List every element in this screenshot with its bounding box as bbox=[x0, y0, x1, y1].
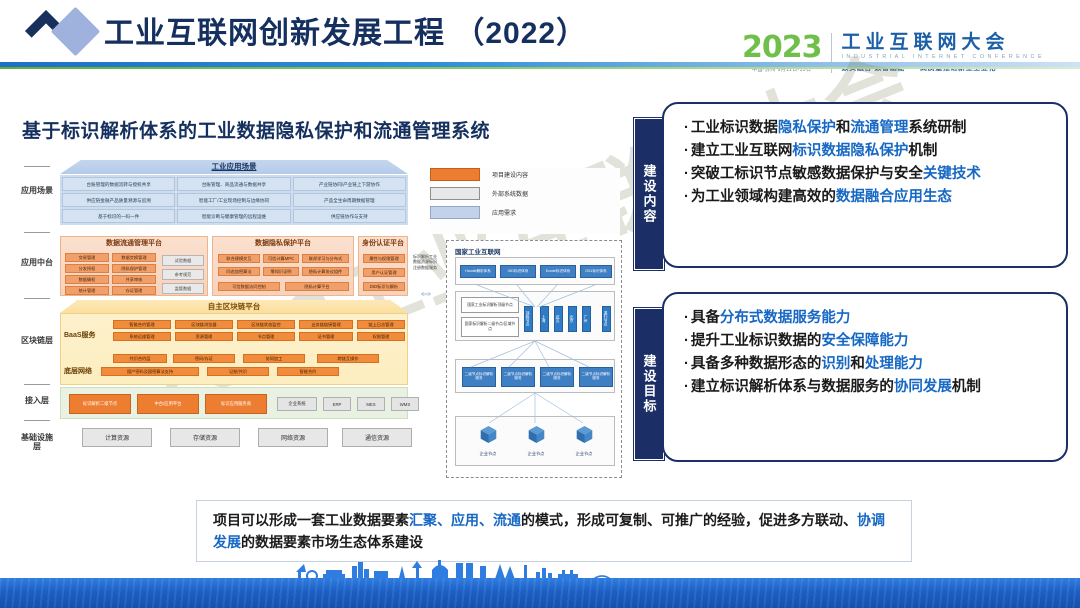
platform-pill: 联合建模交互 bbox=[218, 254, 260, 263]
root-node-box: 国家工业标识解析顶级节点 国家标识解析二级节点/区域节点 顶级节点 上海 武汉 … bbox=[455, 291, 615, 341]
cube-icon bbox=[576, 425, 593, 444]
platform-pill: 同态加密算法 bbox=[218, 267, 260, 276]
legend-swatch-icon bbox=[430, 206, 480, 219]
access-pill: 标识解析二级节点 bbox=[69, 394, 131, 414]
conference-year: 2023 bbox=[742, 33, 822, 63]
baas-pill: 区块链状态监控 bbox=[237, 320, 295, 329]
enterprise-node-label: 企业节点 bbox=[564, 451, 604, 457]
slide-canvas: 工业互联网创新发展工程 （2022） 2023 中国·苏州 9月11日-13日 … bbox=[0, 0, 1080, 608]
infrastructure-body: 计算资源 存储资源 网络资源 通信资源 bbox=[60, 423, 408, 453]
diamond-shape-icon bbox=[51, 7, 100, 56]
platform-data-privacy: 数据隐私保护平台 联合建模交互 可信计算MPC 联邦学习与分布式 同态加密算法 … bbox=[212, 236, 354, 296]
second-level-box: 二级节点标识解析服务 二级节点标识解析服务 二级节点标识解析服务 二级节点标识解… bbox=[455, 359, 615, 393]
bullet-item: 提升工业标识数据的安全保障能力 bbox=[684, 333, 1054, 350]
baas-pill: 区块链浏览器 bbox=[175, 320, 233, 329]
network-pill: 协同加工 bbox=[243, 354, 305, 363]
bullet-item: 具备多种数据形态的识别和处理能力 bbox=[684, 356, 1054, 373]
legend-label: 项目建设内容 bbox=[492, 170, 528, 179]
exchange-note: 标识解析工业数据资源标识注册数据服务 bbox=[412, 254, 438, 270]
bullet-item: 建立标识解析体系与数据服务的协同发展机制 bbox=[684, 379, 1054, 396]
region-chip: 上海 bbox=[540, 306, 549, 332]
second-level-chip: 二级节点标识解析服务 bbox=[540, 367, 574, 387]
bidirectional-arrow-icon: ⇔ bbox=[412, 286, 440, 300]
app-scenario-cell: 供应链金融产品质量溯源与追溯 bbox=[62, 193, 175, 207]
panel-construction-goal: 具备分布式数据服务能力 提升工业标识数据的安全保障能力 具备多种数据形态的识别和… bbox=[662, 292, 1068, 462]
platform-band: 数据流通管理平台 交易管理 数据交换管理 分发授权 隐私保护管理 数据确权 共享… bbox=[60, 236, 408, 296]
infra-pill: 通信资源 bbox=[342, 428, 412, 447]
tab-construction-goal[interactable]: 建设目标 bbox=[634, 308, 664, 460]
legend-label: 应用需求 bbox=[492, 208, 516, 217]
water-band bbox=[0, 578, 1080, 608]
summary-box: 项目可以形成一套工业数据要素汇聚、应用、流通的模式，形成可复制、可推广的经验，促… bbox=[196, 500, 912, 562]
bullet-item: 突破工标识节点敏感数据保护与安全关键技术 bbox=[684, 166, 1054, 183]
conference-logo: 2023 中国·苏州 9月11日-13日 工业互联网大会 INDUSTRIAL … bbox=[742, 26, 1072, 80]
cube-icon bbox=[480, 425, 497, 444]
external-pill: 监管数据 bbox=[162, 283, 204, 294]
cube-icon bbox=[528, 425, 545, 444]
bullet-item: 具备分布式数据服务能力 bbox=[684, 310, 1054, 327]
baas-pill: 业务链链接管理 bbox=[299, 320, 353, 329]
national-network-title: 国家工业互联网 bbox=[455, 246, 501, 256]
platform-pill: 数据确权 bbox=[65, 275, 109, 284]
baas-label: BaaS服务 bbox=[64, 330, 96, 340]
infra-pill: 计算资源 bbox=[82, 428, 152, 447]
layer-label-access: 接入层 bbox=[18, 396, 56, 405]
legend-swatch-icon bbox=[430, 187, 480, 200]
summary-text: 项目可以形成一套工业数据要素汇聚、应用、流通的模式，形成可复制、可推广的经验，促… bbox=[213, 511, 895, 554]
baas-pill: 证书管理 bbox=[299, 332, 353, 341]
recursive-node-chip: 递归节点 bbox=[602, 306, 611, 332]
platform-pill: 属性与权限管理 bbox=[363, 254, 405, 263]
identity-standards-box: Handle解析体系 OID标识体系 Ecode标识体系 GS1标识体系 bbox=[455, 257, 615, 285]
standard-chip: Ecode标识体系 bbox=[540, 265, 576, 278]
platform-pill: 交易管理 bbox=[65, 253, 109, 262]
platform-identity-auth: 身份认证平台 属性与权限管理 用户认证管理 DID标识与解析 bbox=[358, 236, 408, 296]
external-system-pill: WMS bbox=[391, 397, 419, 411]
conference-name-en: INDUSTRIAL INTERNET CONFERENCE bbox=[842, 54, 1045, 60]
standard-chip: Handle解析体系 bbox=[460, 265, 496, 278]
legend-label: 外部系统数据 bbox=[492, 189, 528, 198]
external-system-pill: ERP bbox=[323, 397, 351, 411]
app-scenario-cell: 产业链协同/产业链上下游协作 bbox=[293, 177, 406, 191]
conference-name-cn: 工业互联网大会 bbox=[842, 33, 1045, 53]
platform-pill: 用户认证管理 bbox=[363, 268, 405, 277]
external-system-pill: MES bbox=[357, 397, 385, 411]
platform-pill: 存证管理 bbox=[112, 286, 156, 295]
brand-logo-icon bbox=[28, 10, 108, 56]
baas-pill: 链上日志管理 bbox=[357, 320, 405, 329]
legend-swatch-icon bbox=[430, 168, 480, 181]
platform-data-circulation: 数据流通管理平台 交易管理 数据交换管理 分发授权 隐私保护管理 数据确权 共享… bbox=[60, 236, 208, 296]
page-title: 工业互联网创新发展工程 （2022） bbox=[104, 8, 587, 52]
platform-pill: 隐私保护管理 bbox=[112, 264, 156, 273]
baas-pill: 权限管理 bbox=[357, 332, 405, 341]
network-pill: 国产密码及国密算法支持 bbox=[101, 367, 199, 376]
platform-pill: 零知识证明 bbox=[263, 267, 299, 276]
app-scenario-cell: 台账管理、商品流通与数据共享 bbox=[177, 177, 290, 191]
layer-label-infrastructure: 基础设施层 bbox=[18, 433, 56, 451]
layer-label-application-midend: 应用中台 bbox=[18, 258, 56, 267]
external-pill: 参考规范 bbox=[162, 269, 204, 280]
app-scenario-cell: 产品全生命周期数据管理 bbox=[293, 193, 406, 207]
root-node-label: 国家工业标识解析顶级节点 bbox=[461, 297, 519, 313]
network-pill: 共识合约层 bbox=[113, 354, 167, 363]
app-scenario-title: 工业应用场景 bbox=[60, 160, 408, 174]
platform-pill: 统计管理 bbox=[65, 286, 109, 295]
platform-pill: 数据交换管理 bbox=[112, 253, 156, 262]
baas-pill: 智能合约管理 bbox=[113, 320, 171, 329]
standard-chip: GS1标识体系 bbox=[580, 265, 612, 278]
footer-skyline-band bbox=[0, 562, 1080, 608]
top-node-chip: 顶级节点 bbox=[524, 306, 533, 332]
platform-pill: 可信计算MPC bbox=[263, 254, 299, 263]
bullet-item: 建立工业互联网标识数据隐私保护机制 bbox=[684, 143, 1054, 160]
enterprise-node-box: 企业节点 企业节点 企业节点 bbox=[455, 416, 615, 466]
external-pill: 试验数据 bbox=[162, 255, 204, 266]
architecture-diagram: 应用场景 应用中台 区块链层 接入层 基础设施层 工业应用场景 台账管理的数据流… bbox=[18, 158, 623, 488]
layer-rail: 应用场景 应用中台 区块链层 接入层 基础设施层 bbox=[18, 158, 56, 488]
app-scenario-grid: 台账管理的数据流转与授权共享 台账管理、商品流通与数据共享 产业链协同/产业链上… bbox=[60, 175, 408, 225]
second-level-chip: 二级节点标识解析服务 bbox=[579, 367, 613, 387]
standard-chip: OID标识体系 bbox=[500, 265, 536, 278]
region-chip: 武汉 bbox=[554, 306, 563, 332]
platform-pill: DID标识与解析 bbox=[363, 282, 405, 291]
national-network-panel: 国家工业互联网 Handle解析体系 OID标识体系 Ecode标识体系 GS1… bbox=[446, 240, 622, 478]
app-scenario-cell: 智能诊断与健康管理的远程运维 bbox=[177, 209, 290, 223]
legend-item: 应用需求 bbox=[430, 206, 620, 219]
infra-pill: 网络资源 bbox=[258, 428, 328, 447]
enterprise-node-label: 企业节点 bbox=[516, 451, 556, 457]
network-pill: 跨链互操作 bbox=[317, 354, 379, 363]
second-node-label: 国家标识解析二级节点/区域节点 bbox=[461, 317, 519, 337]
layer-label-application-scenario: 应用场景 bbox=[18, 186, 56, 195]
second-level-chip: 二级节点标识解析服务 bbox=[462, 367, 496, 387]
network-pill: 密码/存证 bbox=[173, 354, 235, 363]
legend-item: 外部系统数据 bbox=[430, 187, 620, 200]
region-chip: 广州 bbox=[582, 306, 591, 332]
region-chip: 北京 bbox=[568, 306, 577, 332]
platform-pill: 联邦学习与分布式 bbox=[302, 254, 349, 263]
platform-title: 数据流通管理平台 bbox=[61, 237, 207, 250]
enterprise-node-label: 企业节点 bbox=[468, 451, 508, 457]
access-layer-body: 标识解析二级节点 中台/应用平台 标识应用服务商 企业系统 ERP MES WM… bbox=[60, 387, 408, 419]
bullet-item: 工业标识数据隐私保护和流通管理系统研制 bbox=[684, 120, 1054, 137]
app-scenario-cell: 智能工厂/工业现场控制与边缘协同 bbox=[177, 193, 290, 207]
platform-pill: 隐私计算协议组件 bbox=[302, 267, 349, 276]
external-system-pill: 企业系统 bbox=[277, 397, 317, 411]
second-level-chip: 二级节点标识解析服务 bbox=[501, 367, 535, 387]
baas-pill: 节点管理 bbox=[237, 332, 295, 341]
layer-label-blockchain: 区块链层 bbox=[18, 336, 56, 345]
app-scenario-cell: 基于标识的一码一件 bbox=[62, 209, 175, 223]
panel-construction-content: 工业标识数据隐私保护和流通管理系统研制 建立工业互联网标识数据隐私保护机制 突破… bbox=[662, 102, 1068, 268]
platform-pill: 分发授权 bbox=[65, 264, 109, 273]
slide-header: 工业互联网创新发展工程 （2022） 2023 中国·苏州 9月11日-13日 … bbox=[0, 0, 1080, 62]
header-rule-green bbox=[0, 67, 1080, 69]
blockchain-title: 自主区块链平台 bbox=[60, 300, 408, 313]
baas-pill: 系统运维管理 bbox=[113, 332, 171, 341]
platform-title: 身份认证平台 bbox=[359, 237, 407, 250]
tab-construction-content[interactable]: 建设内容 bbox=[634, 118, 664, 270]
network-pill: 记账/共识 bbox=[207, 367, 269, 376]
platform-pill: 可信数据访问控制 bbox=[218, 282, 280, 291]
bullet-item: 为工业领域构建高效的数据融合应用生态 bbox=[684, 189, 1054, 206]
network-label: 底层网络 bbox=[64, 366, 92, 376]
access-pill: 标识应用服务商 bbox=[205, 394, 267, 414]
platform-pill: 隐私计算平台 bbox=[285, 282, 349, 291]
app-scenario-cell: 供应链协作与支持 bbox=[293, 209, 406, 223]
section-heading: 基于标识解析体系的工业数据隐私保护和流通管理系统 bbox=[22, 116, 490, 143]
network-pill: 智能合约 bbox=[277, 367, 339, 376]
access-pill: 中台/应用平台 bbox=[137, 394, 199, 414]
legend-item: 项目建设内容 bbox=[430, 168, 620, 181]
baas-pill: 资源管理 bbox=[175, 332, 233, 341]
blockchain-body: BaaS服务 智能合约管理 区块链浏览器 区块链状态监控 业务链链接管理 链上日… bbox=[60, 313, 408, 385]
diagram-legend: 项目建设内容 外部系统数据 应用需求 bbox=[430, 168, 620, 234]
platform-title: 数据隐私保护平台 bbox=[213, 237, 353, 250]
platform-pill: 共享审核 bbox=[112, 275, 156, 284]
app-scenario-cell: 台账管理的数据流转与授权共享 bbox=[62, 177, 175, 191]
infra-pill: 存储资源 bbox=[170, 428, 240, 447]
